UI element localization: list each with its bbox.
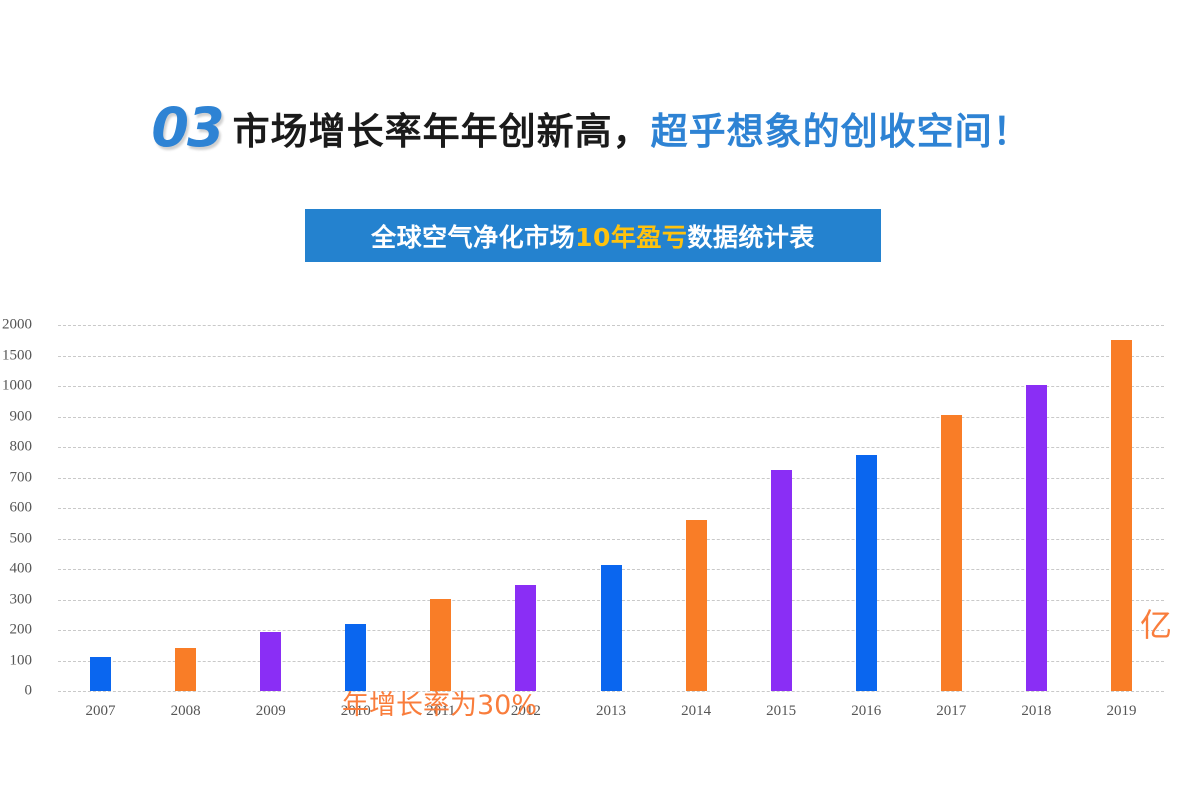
gridline [58, 447, 1164, 448]
y-axis-tick-label: 1500 [0, 347, 32, 364]
bar-2019[interactable] [1111, 340, 1132, 691]
y-axis-tick-label: 0 [0, 683, 32, 700]
x-axis-tick-label: 2015 [741, 703, 821, 720]
banner-highlight: 10年盈亏 [575, 218, 687, 254]
y-axis-tick-label: 300 [0, 591, 32, 608]
bar-2017[interactable] [941, 415, 962, 691]
section-number: 03 [151, 96, 222, 159]
chart-title-banner: 全球空气净化市场10年盈亏数据统计表 [305, 209, 881, 262]
banner-prefix: 全球空气净化市场 [371, 218, 575, 254]
bar-2011[interactable] [430, 599, 451, 691]
growth-rate-annotation: 年增长率为30% [342, 683, 537, 722]
bar-2018[interactable] [1026, 385, 1047, 691]
bar-2014[interactable] [686, 520, 707, 691]
gridline [58, 356, 1164, 357]
page-headline: 03市场增长率年年创新高，超乎想象的创收空间！ [0, 96, 1182, 159]
y-axis-tick-label: 200 [0, 622, 32, 639]
x-axis-tick-label: 2009 [231, 703, 311, 720]
bar-2015[interactable] [771, 470, 792, 691]
plot-area: 2000150010009008007006005004003002001000… [58, 325, 1164, 691]
gridline [58, 508, 1164, 509]
gridline [58, 417, 1164, 418]
gridline [58, 478, 1164, 479]
headline-text-blue: 超乎想象的创收空间！ [651, 110, 1031, 153]
unit-label: 亿 [1140, 600, 1172, 646]
bar-2010[interactable] [345, 624, 366, 691]
banner-suffix: 数据统计表 [687, 218, 815, 254]
headline-text-black: 市场增长率年年创新高， [233, 110, 651, 153]
bar-2013[interactable] [601, 565, 622, 691]
y-axis-tick-label: 1000 [0, 378, 32, 395]
gridline [58, 325, 1164, 326]
x-axis-tick-label: 2014 [656, 703, 736, 720]
x-axis-tick-label: 2008 [146, 703, 226, 720]
x-axis-tick-label: 2016 [826, 703, 906, 720]
x-axis-tick-label: 2013 [571, 703, 651, 720]
y-axis-tick-label: 900 [0, 408, 32, 425]
bar-2008[interactable] [175, 648, 196, 691]
x-axis-tick-label: 2017 [911, 703, 991, 720]
y-axis-tick-label: 600 [0, 500, 32, 517]
bar-2007[interactable] [90, 657, 111, 691]
y-axis-tick-label: 400 [0, 561, 32, 578]
gridline [58, 539, 1164, 540]
y-axis-tick-label: 800 [0, 439, 32, 456]
y-axis-tick-label: 2000 [0, 317, 32, 334]
x-axis-tick-label: 2007 [61, 703, 141, 720]
y-axis-tick-label: 500 [0, 530, 32, 547]
y-axis-tick-label: 700 [0, 469, 32, 486]
gridline [58, 386, 1164, 387]
bar-2016[interactable] [856, 455, 877, 691]
x-axis-tick-label: 2018 [996, 703, 1076, 720]
x-axis-tick-label: 2019 [1081, 703, 1161, 720]
bar-2012[interactable] [515, 585, 536, 691]
y-axis-tick-label: 100 [0, 652, 32, 669]
bar-2009[interactable] [260, 632, 281, 691]
gridline [58, 691, 1164, 692]
bar-chart: 2000150010009008007006005004003002001000… [0, 300, 1182, 740]
